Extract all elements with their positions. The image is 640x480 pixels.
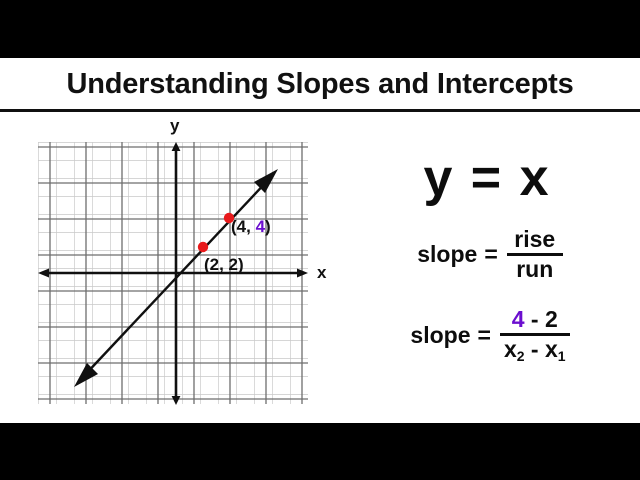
numerator-rest: - 2 xyxy=(525,306,558,332)
page-title: Understanding Slopes and Intercepts xyxy=(0,68,640,101)
coordinate-graph: y x (4, 4) (2, 2) xyxy=(38,142,310,405)
point-label-4-4-close: ) xyxy=(265,217,271,236)
fraction-denominator-run: run xyxy=(512,256,557,281)
denominator-x2-subscript: 2 xyxy=(517,348,525,364)
content-panel: Understanding Slopes and Intercepts xyxy=(0,58,640,423)
denominator-x1-subscript: 1 xyxy=(558,348,566,364)
letterbox-top xyxy=(0,0,640,58)
letterbox-bottom xyxy=(0,423,640,480)
point-label-2-2: (2, 2) xyxy=(204,255,244,275)
slope-word-2: slope xyxy=(410,322,470,349)
title-divider xyxy=(0,109,640,112)
slope-calculation: slope = 4 - 2 x2 - x1 xyxy=(352,308,628,363)
fraction-numerator-rise: rise xyxy=(510,228,559,253)
equals-sign-1: = xyxy=(484,241,497,268)
data-point-2-2 xyxy=(198,242,208,252)
x-axis-label: x xyxy=(317,263,326,283)
denominator-x2-base: x xyxy=(504,336,517,362)
denominator-minus: - xyxy=(525,336,545,362)
y-axis-label: y xyxy=(170,116,179,136)
graph-canvas xyxy=(38,142,310,405)
fraction-slope-values: 4 - 2 x2 - x1 xyxy=(500,308,570,363)
fraction-rise-over-run: rise run xyxy=(507,228,563,281)
numerator-highlight-4: 4 xyxy=(512,306,525,332)
point-label-4-4: (4, 4) xyxy=(231,217,271,237)
slope-word-1: slope xyxy=(417,241,477,268)
point-label-4-4-open: (4, xyxy=(231,217,256,236)
equals-sign-2: = xyxy=(478,322,491,349)
fraction-numerator-values: 4 - 2 xyxy=(508,308,562,333)
point-label-4-4-highlight: 4 xyxy=(256,217,265,236)
denominator-x1-base: x xyxy=(545,336,558,362)
main-equation: y = x xyxy=(352,148,622,208)
fraction-denominator-values: x2 - x1 xyxy=(500,336,570,363)
math-column: y = x slope = rise run slope = 4 - 2 x2 … xyxy=(352,142,640,412)
slope-definition-rise-run: slope = rise run xyxy=(352,228,628,281)
slide-root: Understanding Slopes and Intercepts xyxy=(0,0,640,480)
